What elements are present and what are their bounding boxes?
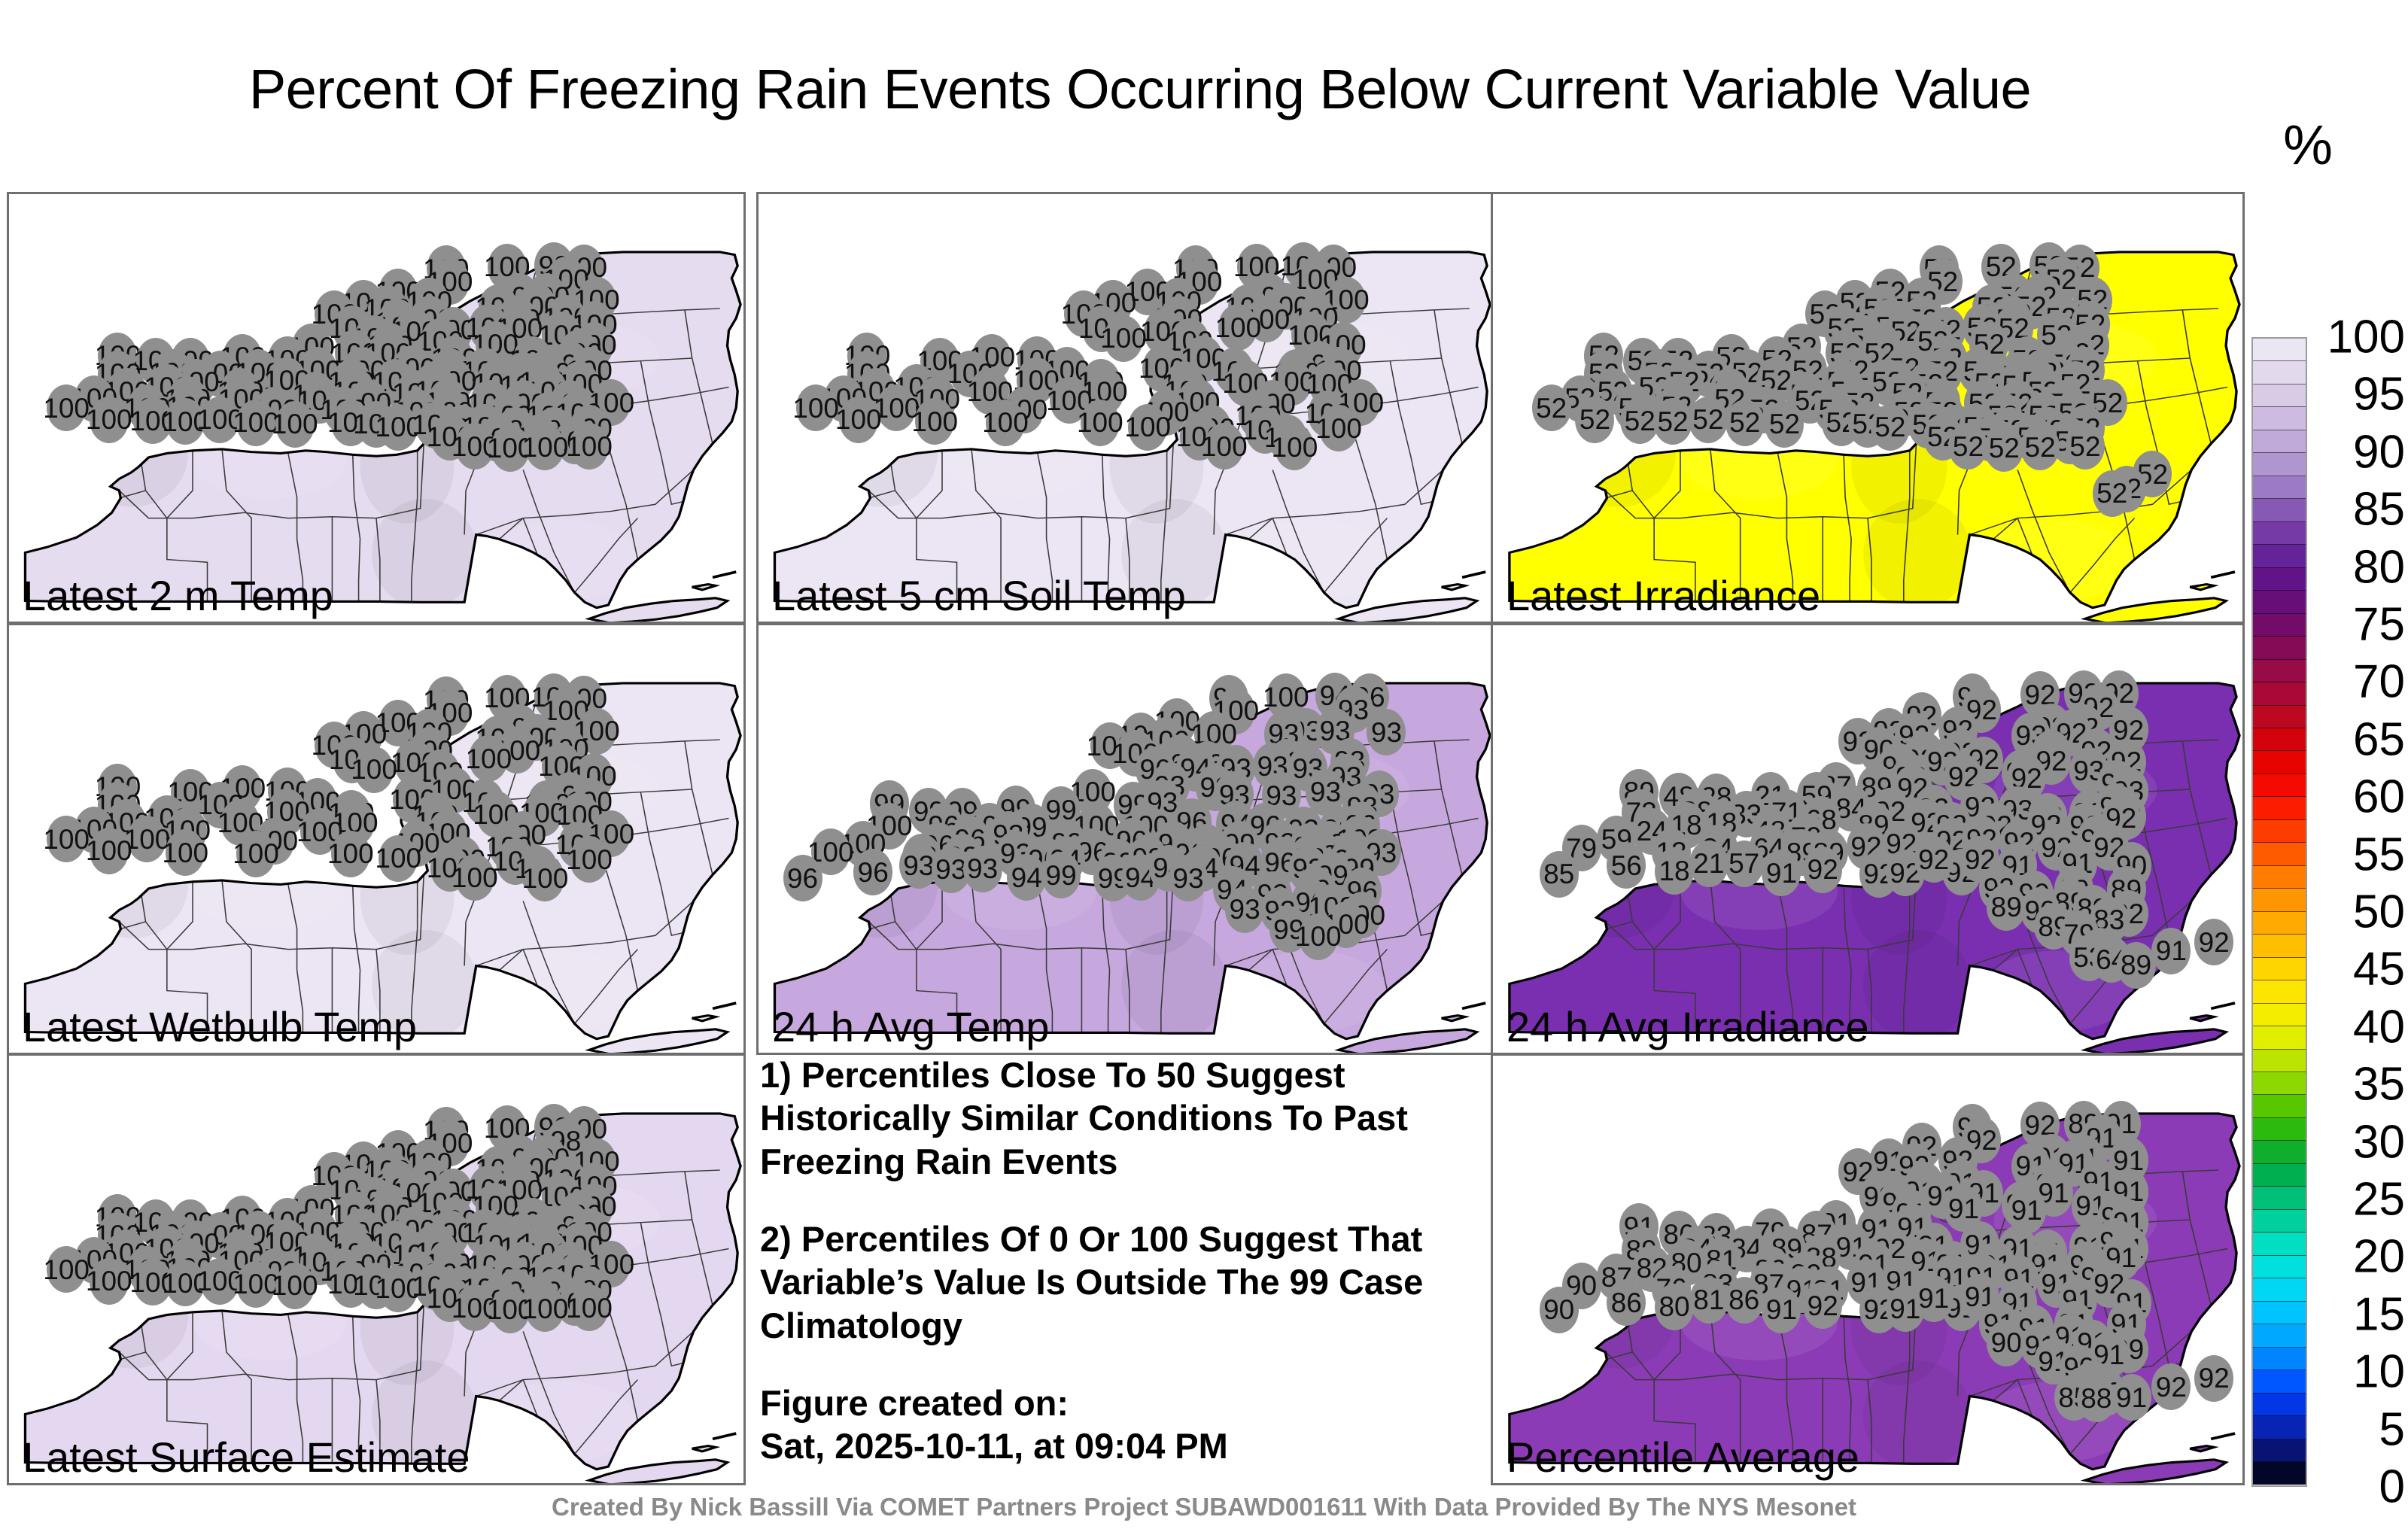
station-value: 100 (1263, 683, 1309, 711)
station-value: 91 (1766, 859, 1797, 887)
colorbar: 1009590858075706560555045403530252015105… (2251, 337, 2408, 1487)
station-marker[interactable]: 100 (570, 836, 609, 883)
station-pip-icon: 85 (1540, 851, 1579, 898)
station-marker[interactable]: 93 (1367, 709, 1406, 755)
colorbar-segment (2253, 958, 2306, 980)
station-marker[interactable]: 100 (331, 831, 370, 877)
map-panel-percentile-average[interactable]: 9292899192919291919191929291929191919191… (1491, 1053, 2245, 1485)
station-marker[interactable]: 100 (1081, 400, 1120, 446)
station-pip-icon: 99 (1041, 852, 1081, 898)
station-marker[interactable]: 100 (1104, 315, 1143, 362)
colorbar-tick: 70 (2353, 655, 2405, 709)
station-value: 52 (2096, 479, 2127, 507)
colorbar-segment (2253, 361, 2306, 384)
station-marker[interactable]: 57 (1725, 840, 1764, 887)
station-marker[interactable]: 100 (236, 400, 275, 446)
station-pip-icon: 81 (1689, 1277, 1728, 1324)
colorbar-tick: 100 (2327, 311, 2405, 364)
colorbar-segment (2253, 889, 2306, 911)
colorbar-segment (2253, 843, 2306, 865)
station-pip-icon: 92 (1803, 847, 1842, 893)
station-value: 81 (1693, 1286, 1724, 1314)
station-marker[interactable]: 56 (1607, 842, 1646, 889)
station-pip-icon: 100 (986, 400, 1025, 446)
station-marker[interactable]: 18 (1655, 848, 1694, 895)
station-value: 89 (2121, 951, 2151, 979)
panel-label-latest-wetbulb-temp: Latest Wetbulb Temp (23, 1002, 417, 1051)
station-marker[interactable]: 93 (1225, 886, 1264, 933)
station-pip-icon: 91 (1762, 1287, 1801, 1333)
station-pip-icon: 91 (1762, 850, 1801, 896)
station-pip-icon: 92 (1803, 1282, 1842, 1329)
colorbar-segment (2253, 706, 2306, 728)
station-value: 80 (1659, 1293, 1689, 1321)
colorbar-segment (2253, 820, 2306, 843)
station-pip-icon: 100 (90, 397, 129, 443)
station-marker[interactable]: 52 (1725, 400, 1765, 446)
colorbar-segment (2253, 1394, 2306, 1416)
station-marker[interactable]: 52 (1948, 423, 1987, 470)
station-pip-icon: 100 (354, 746, 394, 793)
map-panel-24h-avg-irradiance[interactable]: 9292929292929292929292929292929392929292… (1491, 623, 2245, 1055)
station-marker[interactable]: 100 (379, 835, 418, 882)
station-marker[interactable]: 100 (839, 397, 878, 443)
station-value: 92 (1808, 856, 1838, 883)
station-marker[interactable]: 92 (2194, 1355, 2233, 1402)
note-1: 1) Percentiles Close To 50 Suggest Histo… (760, 1053, 1482, 1183)
map-panel-latest-wetbulb-temp[interactable]: 1001001001001001001001001001001001001001… (7, 623, 746, 1055)
colorbar-tick: 80 (2353, 540, 2405, 594)
station-marker[interactable]: 88 (2077, 1375, 2116, 1422)
colorbar-tick: 5 (2379, 1403, 2405, 1456)
colorbar-segment (2253, 1348, 2306, 1370)
map-panel-latest-2m-temp[interactable]: 1001009910010010010010010010010010010010… (7, 192, 746, 624)
colorbar-tick: 15 (2353, 1287, 2405, 1341)
station-value: 100 (566, 433, 613, 460)
station-pip-icon: 90 (1540, 1287, 1579, 1333)
panel-label-latest-surface-estimate: Latest Surface Estimate (23, 1433, 470, 1482)
colorbar-tick: 85 (2353, 483, 2405, 536)
station-value: 100 (162, 839, 208, 867)
station-pip-icon: 100 (839, 397, 878, 443)
colorbar-tick: 40 (2353, 1000, 2405, 1053)
station-marker[interactable]: 92 (1914, 836, 1953, 883)
colorbar-unit-label: % (2251, 113, 2364, 177)
station-marker[interactable]: 100 (47, 816, 86, 862)
station-value: 92 (2199, 929, 2230, 956)
station-marker[interactable]: 100 (275, 1263, 315, 1309)
station-value: 18 (1659, 857, 1689, 885)
station-marker[interactable]: 100 (236, 1261, 275, 1308)
colorbar-segment (2253, 1462, 2306, 1485)
station-pip-icon: 100 (1205, 423, 1244, 470)
colorbar-segment (2253, 1050, 2306, 1072)
station-pip-icon: 91 (2151, 928, 2191, 974)
station-value: 100 (43, 825, 90, 853)
station-pip-icon: 52 (1725, 400, 1765, 446)
station-value: 100 (1077, 409, 1123, 436)
station-value: 93 (1172, 865, 1203, 892)
station-marker[interactable]: 90 (1540, 1287, 1579, 1333)
station-value: 92 (1918, 846, 1949, 874)
station-marker[interactable]: 92 (1803, 847, 1842, 893)
station-marker[interactable]: 93 (1169, 855, 1208, 901)
colorbar-tick: 60 (2353, 771, 2405, 824)
station-value: 89 (1991, 893, 2022, 921)
station-value: 91 (1948, 1195, 1979, 1223)
station-value: 92 (2199, 1364, 2230, 1392)
station-value: 100 (1315, 415, 1362, 442)
colorbar-segment (2253, 1072, 2306, 1095)
station-marker[interactable]: 52 (1532, 385, 1571, 431)
map-panel-latest-irradiance[interactable]: 5252525252525252525252525252525252525252… (1491, 192, 2245, 624)
station-value: 91 (1918, 1284, 1949, 1312)
station-value: 100 (1201, 433, 1248, 460)
station-marker[interactable]: 96 (783, 855, 822, 901)
station-pip-icon: 100 (275, 401, 315, 448)
station-value: 99 (1046, 862, 1077, 889)
station-marker[interactable]: 52 (1765, 401, 1804, 448)
created-on-heading: Figure created on: (760, 1381, 1482, 1424)
station-marker[interactable]: 100 (1128, 404, 1167, 451)
panel-label-latest-irradiance: Latest Irradiance (1507, 571, 1820, 620)
station-value: 100 (86, 406, 132, 433)
panel-label-24h-avg-temp: 24 h Avg Temp (772, 1002, 1049, 1051)
station-value: 52 (1579, 406, 1610, 433)
station-value: 92 (1808, 1292, 1838, 1320)
station-value: 21 (1693, 850, 1724, 877)
station-pip-icon: 100 (236, 400, 275, 446)
panel-label-24h-avg-irradiance: 24 h Avg Irradiance (1507, 1002, 1869, 1051)
colorbar-segment (2253, 453, 2306, 476)
station-marker[interactable]: 86 (1607, 1279, 1646, 1326)
station-value: 52 (2025, 433, 2056, 461)
station-marker[interactable]: 100 (455, 854, 494, 901)
station-marker[interactable]: 52 (1689, 397, 1728, 443)
station-value: 100 (522, 865, 569, 892)
station-pip-icon: 18 (1655, 848, 1694, 895)
colorbar-tick: 25 (2353, 1173, 2405, 1226)
station-pip-icon: 100 (236, 1261, 275, 1308)
colorbar-tick: 65 (2353, 713, 2405, 766)
colorbar-segment (2253, 1164, 2306, 1187)
colorbar-segment (2253, 1004, 2306, 1026)
station-value: 100 (86, 1267, 132, 1295)
station-marker[interactable]: 100 (1299, 913, 1338, 960)
station-marker[interactable]: 100 (127, 816, 166, 862)
station-pip-icon: 100 (127, 816, 166, 862)
colorbar-tick: 55 (2353, 828, 2405, 881)
station-pip-icon: 100 (1104, 315, 1143, 362)
station-marker[interactable]: 52 (1984, 425, 2023, 472)
station-marker[interactable]: 91 (2112, 1374, 2151, 1421)
station-value: 100 (86, 837, 132, 865)
station-value: 100 (566, 846, 613, 874)
station-pip-icon: 100 (570, 1284, 609, 1331)
station-marker[interactable]: 100 (877, 385, 916, 431)
colorbar-segment (2253, 430, 2306, 453)
station-value: 92 (2156, 1373, 2187, 1401)
station-pip-icon: 100 (455, 854, 494, 901)
station-pip-icon: 96 (853, 849, 892, 895)
station-marker[interactable]: 21 (1689, 840, 1728, 887)
station-marker[interactable]: 52 (2020, 424, 2060, 470)
colorbar-tick: 45 (2353, 943, 2405, 996)
station-pip-icon: 100 (90, 828, 129, 874)
station-marker[interactable]: 52 (1871, 404, 1910, 451)
station-value: 100 (982, 409, 1029, 436)
station-pip-icon: 88 (2077, 1375, 2116, 1422)
station-marker[interactable]: 100 (915, 398, 954, 445)
station-value: 52 (1625, 407, 1655, 435)
panel-label-percentile-average: Percentile Average (1507, 1433, 1859, 1482)
station-pip-icon: 93 (1367, 709, 1406, 755)
colorbar-segment (2253, 980, 2306, 1003)
station-marker[interactable]: 100 (47, 385, 86, 431)
station-value: 52 (1729, 409, 1760, 436)
map-panel-latest-5cm-soil-temp[interactable]: 1001001001001001001001001001001001001001… (756, 192, 1495, 624)
colorbar-segment (2253, 1370, 2306, 1393)
colorbar-segment (2253, 1233, 2306, 1255)
station-pip-icon: 100 (570, 836, 609, 883)
station-marker[interactable]: 81 (1689, 1277, 1728, 1324)
station-marker[interactable]: 92 (2151, 1363, 2191, 1410)
station-pip-icon: 100 (379, 835, 418, 882)
station-value: 52 (1769, 410, 1800, 438)
station-value: 90 (1543, 1296, 1574, 1324)
station-marker[interactable]: 100 (796, 385, 835, 431)
station-pip-icon: 100 (915, 398, 954, 445)
station-marker[interactable]: 52 (1653, 398, 1692, 445)
colorbar-segment (2253, 407, 2306, 430)
station-marker[interactable]: 91 (1914, 1275, 1953, 1322)
station-marker[interactable]: 100 (525, 1285, 564, 1332)
station-pip-icon: 86 (1607, 1279, 1646, 1326)
station-value: 96 (858, 859, 889, 886)
station-pip-icon: 100 (525, 1285, 564, 1332)
station-marker[interactable]: 91 (2151, 928, 2191, 974)
station-pip-icon: 100 (1275, 424, 1314, 470)
station-marker[interactable]: 92 (1803, 1282, 1842, 1329)
station-value: 100 (327, 840, 374, 868)
station-pip-icon: 52 (1871, 404, 1910, 451)
station-marker[interactable]: 52 (1575, 397, 1614, 443)
station-marker[interactable]: 100 (275, 401, 315, 448)
station-marker[interactable]: 85 (1540, 851, 1579, 898)
map-panel-latest-surface-estimate[interactable]: 1001009010010098100100100100100100100100… (7, 1053, 746, 1485)
station-value: 52 (1989, 434, 2020, 462)
station-pip-icon: 56 (1607, 842, 1646, 889)
station-pip-icon: 100 (90, 1258, 129, 1305)
station-value: 52 (1657, 408, 1688, 436)
station-value: 100 (566, 1294, 613, 1322)
station-value: 52 (1692, 406, 1723, 433)
station-marker[interactable]: 91 (1762, 1287, 1801, 1333)
colorbar-tick: 50 (2353, 886, 2405, 939)
colorbar-segment (2253, 1324, 2306, 1347)
station-pip-icon: 93 (1225, 886, 1264, 933)
colorbar-segment (2253, 385, 2306, 407)
colorbar-segment (2253, 591, 2306, 613)
station-pip-icon: 52 (1575, 397, 1614, 443)
station-value: 100 (835, 406, 882, 433)
station-pip-icon: 92 (2194, 1355, 2233, 1402)
station-marker[interactable]: 99 (1041, 852, 1081, 898)
colorbar-segment (2253, 774, 2306, 797)
station-value: 100 (522, 1295, 569, 1323)
station-marker[interactable]: 92 (2194, 919, 2233, 965)
station-value: 100 (375, 844, 421, 872)
station-marker[interactable]: 100 (166, 829, 205, 876)
station-pip-icon: 21 (1689, 840, 1728, 887)
station-pip-icon: 52 (1532, 385, 1571, 431)
station-pip-icon: 94 (1007, 854, 1046, 901)
station-pip-icon: 100 (166, 829, 205, 876)
station-marker[interactable]: 100 (90, 397, 129, 443)
colorbar-segment (2253, 1095, 2306, 1117)
station-pip-icon: 100 (525, 855, 564, 901)
station-marker[interactable]: 100 (570, 423, 609, 470)
colorbar-segment (2253, 1026, 2306, 1049)
station-pip-icon: 100 (525, 424, 564, 470)
station-marker[interactable]: 86 (1725, 1277, 1764, 1324)
station-pip-icon: 100 (236, 831, 275, 877)
station-marker[interactable]: 100 (90, 1258, 129, 1305)
station-marker[interactable]: 100 (525, 424, 564, 470)
station-value: 91 (2156, 937, 2187, 965)
station-pip-icon: 52 (1689, 397, 1728, 443)
colorbar-segment (2253, 1278, 2306, 1301)
colorbar-segment (2253, 1256, 2306, 1278)
colorbar-segment (2253, 499, 2306, 521)
colorbar-tick: 95 (2353, 368, 2405, 421)
colorbar-segment (2253, 1141, 2306, 1163)
station-marker[interactable]: 100 (90, 828, 129, 874)
station-pip-icon: 80 (1655, 1284, 1694, 1330)
station-pip-icon: 92 (2151, 1363, 2191, 1410)
colorbar-segment (2253, 912, 2306, 935)
station-marker[interactable]: 96 (853, 849, 892, 895)
colorbar-segment (2253, 614, 2306, 637)
station-value: 100 (1100, 324, 1147, 352)
station-pip-icon: 93 (963, 846, 1002, 892)
station-marker[interactable]: 100 (525, 855, 564, 901)
note-2: 2) Percentiles Of 0 Or 100 Suggest That … (760, 1217, 1482, 1347)
station-pip-icon: 91 (2112, 1374, 2151, 1421)
station-value: 100 (792, 394, 839, 422)
station-value: 100 (233, 840, 279, 868)
station-marker[interactable]: 100 (1319, 405, 1358, 451)
station-pip-icon: 91 (1914, 1275, 1953, 1322)
station-pip-icon: 100 (570, 423, 609, 470)
station-pip-icon: 57 (1725, 840, 1764, 887)
station-pip-icon: 89 (2117, 942, 2156, 989)
station-marker[interactable]: 52 (2066, 423, 2105, 470)
station-pip-icon: 52 (1765, 401, 1804, 448)
station-pip-icon: 100 (877, 385, 916, 431)
station-pip-icon: 92 (1914, 836, 1953, 883)
station-marker[interactable]: 100 (47, 1246, 86, 1293)
colorbar-segment (2253, 866, 2306, 889)
station-marker[interactable]: 91 (1762, 850, 1801, 896)
station-marker[interactable]: 100 (570, 1284, 609, 1331)
station-value: 100 (522, 433, 569, 461)
station-pip-icon: 100 (47, 816, 86, 862)
station-value: 91 (2011, 1196, 2042, 1224)
station-pip-icon: 93 (1169, 855, 1208, 901)
station-pip-icon: 100 (1319, 405, 1358, 451)
station-value: 93 (1310, 778, 1341, 806)
station-value: 88 (2081, 1385, 2112, 1412)
station-pip-icon: 52 (2093, 470, 2132, 517)
colorbar-segment (2253, 1439, 2306, 1462)
colorbar-tick: 75 (2353, 598, 2405, 652)
station-marker[interactable]: 89 (2117, 942, 2156, 989)
station-marker[interactable]: 94 (1007, 854, 1046, 901)
station-pip-icon: 92 (2194, 919, 2233, 965)
station-pip-icon: 52 (1653, 398, 1692, 445)
station-value: 100 (451, 864, 498, 892)
station-pip-icon: 100 (275, 1263, 315, 1309)
page-title: Percent Of Freezing Rain Events Occurrin… (0, 57, 2280, 121)
station-marker[interactable]: 100 (1205, 423, 1244, 470)
station-value: 100 (43, 394, 90, 422)
station-value: 93 (1230, 895, 1260, 923)
station-marker[interactable]: 52 (2093, 470, 2132, 517)
colorbar-segment (2253, 339, 2306, 361)
station-value: 100 (43, 1256, 90, 1284)
credit-line: Created By Nick Bassill Via COMET Partne… (0, 1493, 2408, 1521)
station-pip-icon: 52 (1948, 423, 1987, 470)
station-pip-icon: 100 (331, 831, 370, 877)
station-marker[interactable]: 100 (354, 746, 394, 793)
colorbar-segment (2253, 476, 2306, 499)
station-marker[interactable]: 80 (1655, 1284, 1694, 1330)
station-pip-icon: 52 (2066, 423, 2105, 470)
station-marker[interactable]: 100 (986, 400, 1025, 446)
station-pip-icon: 100 (796, 385, 835, 431)
station-value: 93 (1371, 719, 1402, 746)
colorbar-tick: 30 (2353, 1115, 2405, 1169)
colorbar-segment (2253, 660, 2306, 682)
colorbar-segment (2253, 522, 2306, 545)
colorbar-segment (2253, 1210, 2306, 1233)
station-value: 100 (911, 408, 958, 436)
station-marker[interactable]: 100 (1275, 424, 1314, 470)
station-value: 96 (787, 865, 818, 892)
station-value: 52 (1536, 394, 1567, 422)
station-value: 86 (1728, 1286, 1759, 1314)
map-panel-24h-avg-temp[interactable]: 9910094961009310093939310010010093100969… (756, 623, 1495, 1055)
station-pip-icon: 96 (783, 855, 822, 901)
colorbar-segment (2253, 568, 2306, 591)
station-pip-icon: 52 (1984, 425, 2023, 472)
colorbar-segment (2253, 1118, 2306, 1141)
station-marker[interactable]: 93 (963, 846, 1002, 892)
colorbar-segment (2253, 637, 2306, 659)
station-marker[interactable]: 100 (236, 831, 275, 877)
station-value: 52 (1953, 433, 1984, 460)
station-value: 52 (1874, 413, 1905, 441)
station-value: 94 (1011, 864, 1042, 892)
colorbar-tick: 90 (2353, 425, 2405, 479)
station-pip-icon: 100 (47, 1246, 86, 1293)
station-value: 93 (935, 856, 966, 883)
station-value: 85 (1543, 860, 1574, 888)
panel-label-latest-2m-temp: Latest 2 m Temp (23, 571, 333, 620)
station-value: 100 (1272, 433, 1318, 461)
station-value: 57 (1728, 850, 1759, 877)
